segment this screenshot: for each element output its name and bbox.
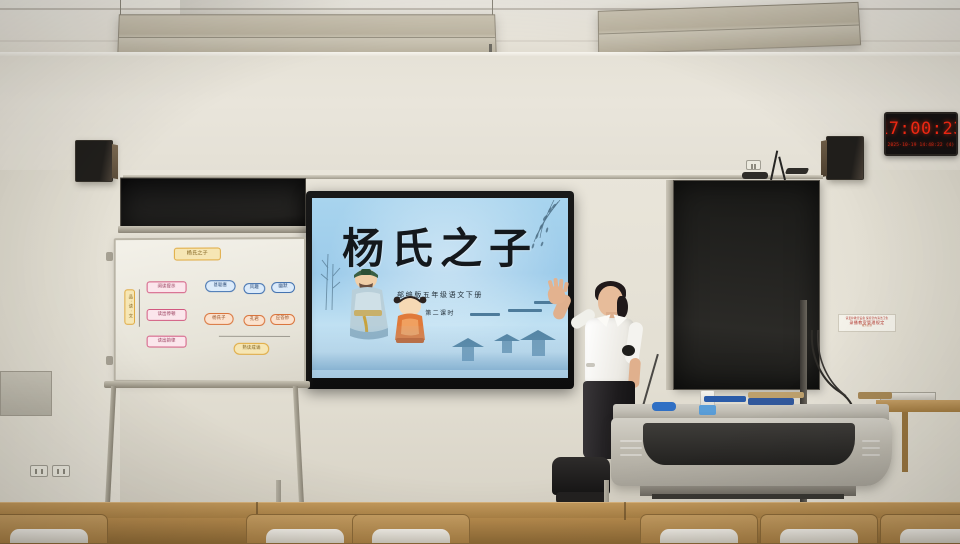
blue-marker[interactable] [652,402,676,411]
microphone-icon[interactable] [622,345,635,356]
chair-cushion [780,529,858,543]
chair-cushion [10,529,88,543]
whiteboard-card-recite[interactable]: 熟读成诵 [234,343,270,355]
whiteboard-card-witty[interactable]: 风趣 [243,283,265,294]
left-wall-return [0,170,120,510]
student-chair[interactable] [246,514,364,544]
podium-vent [620,447,642,449]
pavilion-eave [508,309,542,312]
podium-vent [620,440,642,442]
student-desk-row [0,488,960,544]
wall-digital-clock: 17:00:23 2025-10-19 14:48:22 (4) [884,112,958,156]
podium-vent [862,440,880,442]
whiteboard-column-label[interactable]: 品·读·文 [124,289,135,324]
clock-time: 17:00:23 [884,121,958,138]
chair-cushion [900,529,960,543]
whiteboard-card-pause[interactable]: 读出停顿 [147,309,187,321]
whiteboard-card-reading-hint[interactable]: 阅读提示 [147,281,187,293]
whiteboard-underline [219,336,290,337]
classroom-scene: 17:00:23 2025-10-19 14:48:22 (4) [0,0,960,544]
student-chair[interactable] [880,514,960,544]
whiteboard-hinge [106,356,113,365]
sign-line-3: 教务处制 [862,325,872,328]
magnetic-whiteboard[interactable]: 杨氏之子 品·读·文 阅读提示 读出停顿 读出韵律 甚聪惠 风趣 幽默 杨氏子 … [114,237,306,383]
wireless-receiver [742,172,768,179]
wood-pointer[interactable] [748,392,804,398]
student-chair[interactable] [640,514,758,544]
wall-power-socket[interactable] [30,465,48,477]
room-post [276,480,281,502]
wall-power-socket[interactable] [52,465,70,477]
whiteboard-card-clever[interactable]: 甚聪惠 [205,280,235,292]
wood-pointer[interactable] [858,392,892,399]
ceiling-acoustic-panel-right [598,2,861,55]
blackboard-panel-left [120,177,306,228]
upper-wall [0,56,960,174]
podium-vent [862,447,880,449]
whiteboard-card-humor[interactable]: 幽默 [271,282,295,293]
podium-front-panel [643,423,855,465]
ink-wash-water [312,352,568,370]
interactive-smart-display[interactable]: 杨氏之子 部编版五年级语文下册 第二课时 [306,191,574,389]
whiteboard-header-card[interactable]: 杨氏之子 [174,247,221,260]
student-chair[interactable] [760,514,878,544]
chair-cushion [372,529,450,543]
blue-folder[interactable] [704,396,746,402]
whiteboard-hinge [106,252,113,261]
student-chair[interactable] [352,514,470,544]
clock-date: 2025-10-19 14:48:22 (4) [888,143,955,148]
whiteboard-card-rhythm[interactable]: 读出韵律 [147,336,187,348]
wall-power-socket[interactable] [746,160,761,170]
desk-seam [624,502,626,520]
blue-book[interactable] [748,398,794,405]
teacher-wristwatch [586,363,595,367]
antenna-base [785,168,809,174]
student-chair[interactable] [0,514,108,544]
wall-speaker-right [826,136,864,180]
slide-title: 杨氏之子 [312,228,568,270]
pavilion-eave [470,313,500,316]
speaker-side-panel [821,140,827,177]
whiteboard-card-reply[interactable]: 应答妙 [270,314,295,325]
blue-cup[interactable] [699,405,716,415]
whiteboard-card-yangshizi[interactable]: 杨氏子 [204,313,233,325]
podium-vent [862,454,880,456]
slide-canvas: 杨氏之子 部编版五年级语文下册 第二课时 [312,198,568,378]
whiteboard-marker-tray [104,381,310,388]
whiteboard-card-kongjun[interactable]: 孔君 [243,315,265,326]
blackboard-chalk-tray [118,226,310,233]
wall-speaker-left [75,140,113,182]
room-post [604,480,609,502]
blackboard-panel-right [673,180,820,390]
podium-vent [620,454,642,456]
whiteboard-brace [139,289,140,326]
wall-access-panel [0,371,52,416]
chair-cushion [660,529,738,543]
side-table-leg [902,412,908,472]
speaker-side-panel [112,144,118,179]
teacher-hair-back [617,296,628,318]
chair-cushion [266,529,344,543]
